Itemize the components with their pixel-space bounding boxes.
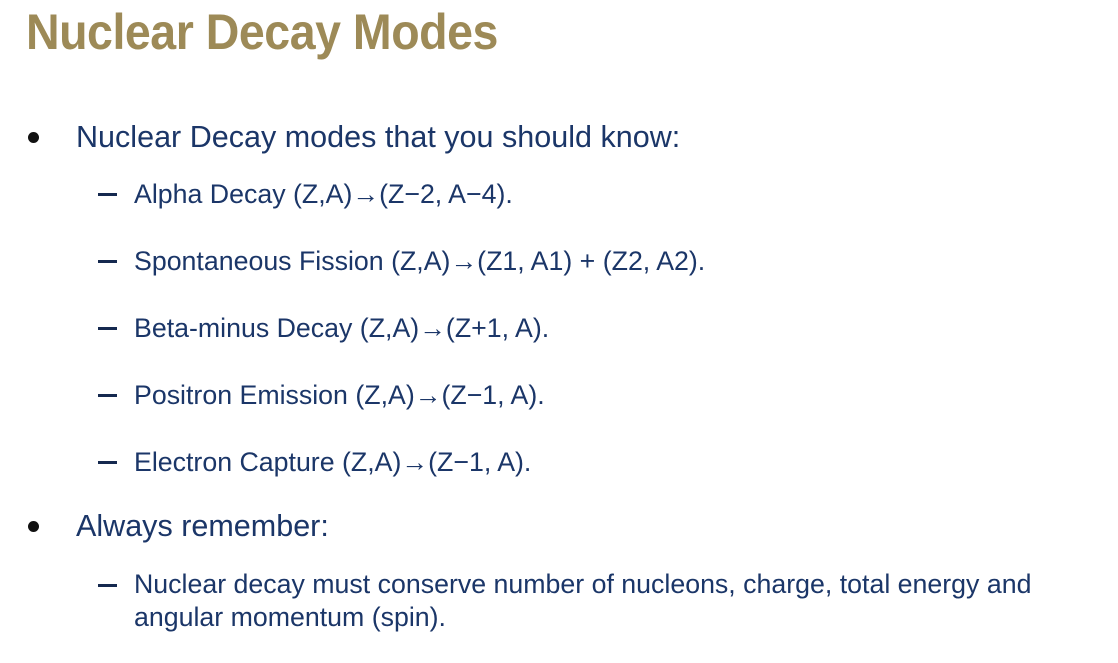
bullet-level2: Positron Emission (Z,A)→(Z−1, A). — [0, 378, 1118, 412]
en-dash-bullet-icon — [98, 394, 117, 397]
en-dash-bullet-icon — [98, 584, 117, 587]
bullet-level2-label: Electron Capture (Z,A)→(Z−1, A). — [134, 445, 1108, 479]
en-dash-bullet-icon — [98, 327, 117, 330]
spacer — [0, 211, 1118, 244]
spacer — [0, 479, 1118, 507]
spacer — [0, 545, 1118, 568]
spacer — [0, 156, 1118, 177]
bullet-level2-label: Positron Emission (Z,A)→(Z−1, A). — [134, 378, 1108, 412]
bullet-level1: Nuclear Decay modes that you should know… — [0, 118, 1118, 156]
bullet-level1: Always remember: — [0, 507, 1118, 545]
bullet-level2: Alpha Decay (Z,A)→(Z−2, A−4). — [0, 177, 1118, 211]
spacer — [0, 412, 1118, 445]
slide-body: Nuclear Decay modes that you should know… — [0, 118, 1118, 634]
spacer — [0, 278, 1118, 311]
bullet-level2: Electron Capture (Z,A)→(Z−1, A). — [0, 445, 1118, 479]
bullet-level2-label: Nuclear decay must conserve number of nu… — [134, 568, 1086, 634]
bullet-level1-label: Always remember: — [76, 507, 329, 545]
bullet-level2-label: Spontaneous Fission (Z,A)→(Z1, A1) + (Z2… — [134, 244, 1108, 278]
round-bullet-icon — [28, 521, 39, 532]
round-bullet-icon — [28, 132, 39, 143]
spacer — [0, 345, 1118, 378]
en-dash-bullet-icon — [98, 193, 117, 196]
en-dash-bullet-icon — [98, 461, 117, 464]
page-title: Nuclear Decay Modes — [26, 2, 498, 62]
slide-canvas: Nuclear Decay Modes Nuclear Decay modes … — [0, 0, 1118, 663]
bullet-level2: Beta-minus Decay (Z,A)→(Z+1, A). — [0, 311, 1118, 345]
en-dash-bullet-icon — [98, 260, 117, 263]
bullet-level2-label: Alpha Decay (Z,A)→(Z−2, A−4). — [134, 177, 1108, 211]
bullet-level2: Nuclear decay must conserve number of nu… — [0, 568, 1118, 634]
bullet-level2: Spontaneous Fission (Z,A)→(Z1, A1) + (Z2… — [0, 244, 1118, 278]
bullet-level2-label: Beta-minus Decay (Z,A)→(Z+1, A). — [134, 311, 1108, 345]
bullet-level1-label: Nuclear Decay modes that you should know… — [76, 118, 680, 156]
